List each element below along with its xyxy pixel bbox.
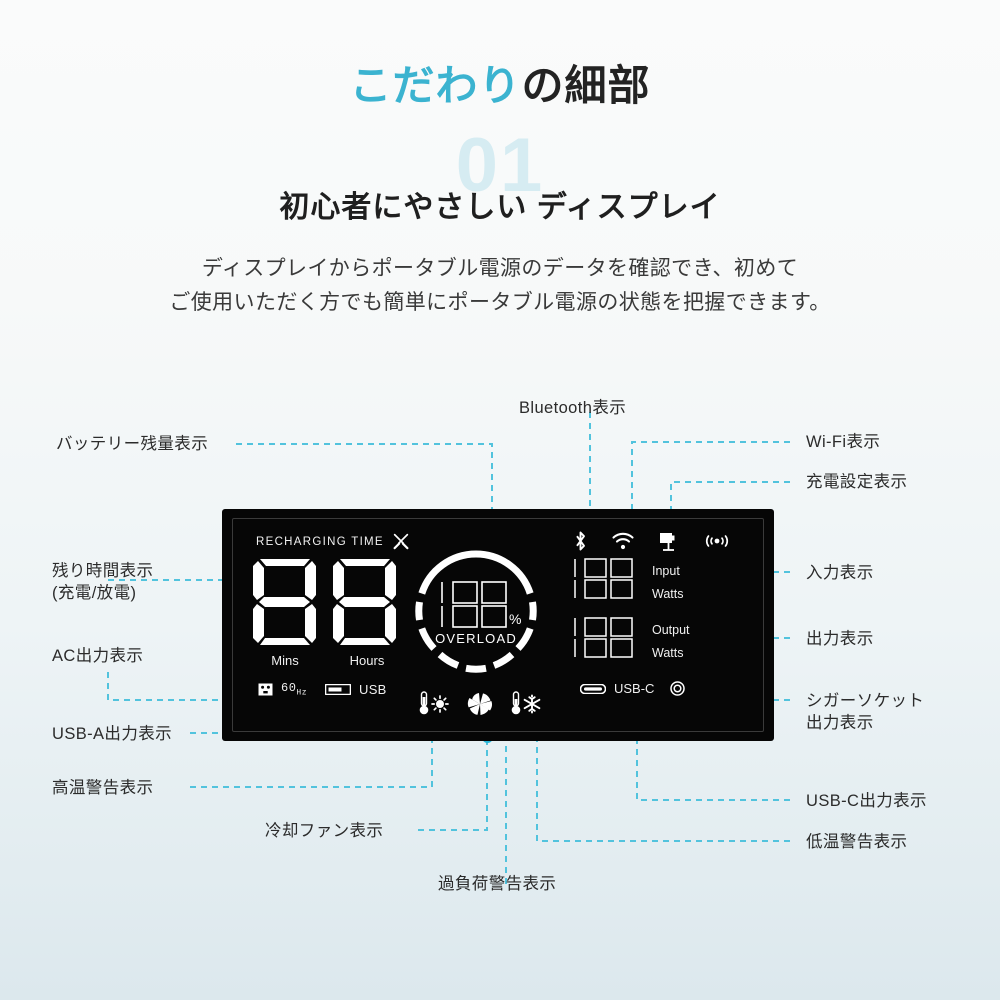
annotation-usb-c-output: USB-C出力表示 (806, 790, 927, 812)
bluetooth-icon (574, 531, 587, 551)
charge-setting-icon (659, 531, 678, 551)
input-output-block: Input Watts Output Watts (570, 556, 690, 666)
output-watts-digits (570, 615, 643, 662)
annotation-high-temp-warning: 高温警告表示 (52, 777, 153, 799)
section-description: ディスプレイからポータブル電源のデータを確認でき、初めて ご使用いただく方でも簡… (0, 252, 1000, 320)
ac-outlet-icon (258, 683, 273, 696)
annotation-bluetooth: Bluetooth表示 (519, 397, 626, 419)
battery-percent-digits (436, 579, 512, 631)
annotation-input-display: 入力表示 (806, 562, 874, 584)
annotation-output-display: 出力表示 (806, 628, 874, 650)
annotation-usb-a-output: USB-A出力表示 (52, 723, 172, 745)
annotation-cigarette-socket-line1: シガーソケット (806, 690, 924, 712)
annotation-remaining-time: 残り時間表示 (充電/放電) (52, 560, 153, 605)
percent-sign: % (509, 611, 521, 627)
output-label: Output (652, 619, 690, 642)
annotation-remaining-time-line1: 残り時間表示 (52, 560, 153, 582)
mins-label: Mins (250, 653, 320, 668)
signal-icon (703, 533, 731, 549)
description-line-1: ディスプレイからポータブル電源のデータを確認でき、初めて (0, 252, 1000, 286)
input-labels: Input Watts (652, 556, 683, 606)
page-title-accent: こだわり (349, 62, 521, 109)
tools-icon (392, 532, 410, 550)
annotation-overload-warning: 過負荷警告表示 (438, 873, 556, 895)
output-labels: Output Watts (652, 615, 690, 665)
annotation-charge-setting: 充電設定表示 (806, 471, 907, 493)
usb-c-icon (580, 684, 606, 694)
recharging-time-digits (250, 555, 402, 649)
annotation-cigarette-socket: シガーソケット 出力表示 (806, 690, 924, 735)
input-unit: Watts (652, 583, 683, 606)
display-panel: RECHARGING TIME (222, 509, 774, 741)
annotation-low-temp-warning: 低温警告表示 (806, 831, 907, 853)
wifi-icon (612, 532, 634, 550)
annotation-wifi: Wi-Fi表示 (806, 431, 880, 453)
hours-label: Hours (332, 653, 402, 668)
low-temperature-icon (510, 691, 542, 717)
cigarette-socket-icon (670, 681, 685, 696)
page-title-rest: の細部 (522, 62, 651, 109)
usbc-cigarette-row: USB-C (580, 681, 685, 696)
battery-ring-gauge: % OVERLOAD (414, 549, 538, 673)
usb-a-label: USB (359, 682, 387, 697)
time-unit-labels: Mins Hours (250, 653, 402, 668)
output-unit: Watts (652, 642, 690, 665)
high-temperature-icon (418, 691, 450, 717)
usb-a-icon (325, 684, 351, 695)
recharging-time-label: RECHARGING TIME (256, 536, 384, 548)
input-label: Input (652, 560, 683, 583)
description-line-2: ご使用いただく方でも簡単にポータブル電源の状態を把握できます。 (0, 286, 1000, 320)
cooling-fan-icon (466, 691, 494, 717)
annotation-remaining-time-line2: (充電/放電) (52, 582, 153, 604)
status-icon-row (574, 531, 731, 551)
input-row: Input Watts (570, 556, 690, 606)
usb-c-label: USB-C (614, 681, 654, 696)
input-watts-digits (570, 556, 643, 603)
section-subtitle: 初心者にやさしい ディスプレイ (0, 182, 1000, 226)
annotation-battery-level: バッテリー残量表示 (56, 433, 208, 455)
hz-value: 60Hz (281, 681, 307, 697)
annotation-ac-output: AC出力表示 (52, 645, 143, 667)
annotation-cooling-fan: 冷却ファン表示 (265, 820, 383, 842)
page-title: こだわりの細部 (0, 52, 1000, 113)
annotation-cigarette-socket-line2: 出力表示 (806, 712, 924, 734)
warning-icon-row (418, 691, 542, 717)
ac-usb-indicator-row: 60Hz USB (258, 681, 387, 697)
hz-unit: Hz (296, 688, 307, 697)
overload-label: OVERLOAD (414, 631, 538, 646)
output-row: Output Watts (570, 615, 690, 665)
